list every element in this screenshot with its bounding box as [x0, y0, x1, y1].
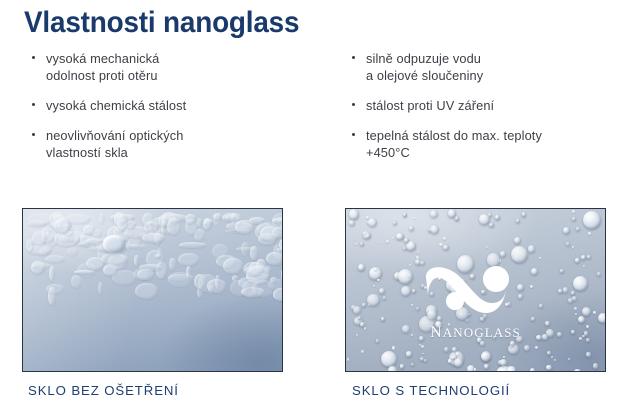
water-droplet: [403, 213, 407, 217]
feature-list-right: silně odpuzuje vodu a olejové sloučeniny…: [350, 50, 637, 174]
water-film-patch: [270, 277, 277, 283]
water-droplet: [568, 358, 570, 360]
water-film-patch: [142, 233, 166, 243]
water-film-patch: [179, 242, 206, 248]
bullet-dot-icon: [32, 133, 35, 136]
water-film-patch: [28, 220, 47, 227]
water-film-patch: [86, 238, 102, 243]
water-droplet: [516, 336, 523, 343]
water-droplet: [360, 242, 364, 246]
list-item-line: vlastností skla: [46, 144, 330, 161]
list-item-line: neovlivňování optických: [46, 127, 330, 144]
water-droplet: [409, 264, 411, 266]
water-film-patch: [242, 280, 257, 298]
water-droplet: [507, 366, 515, 371]
list-item: neovlivňování optických vlastností skla: [30, 127, 330, 161]
water-droplet: [443, 237, 446, 240]
water-film-patch: [167, 218, 181, 234]
water-film-patch: [103, 264, 118, 276]
water-film-patch: [46, 284, 64, 294]
water-droplet: [361, 350, 364, 353]
water-droplet: [530, 368, 535, 371]
water-droplet: [593, 363, 598, 368]
water-droplet: [501, 277, 505, 281]
water-film-patch: [57, 217, 70, 233]
list-item-line: tepelná stálost do max. teploty: [366, 127, 637, 144]
water-droplet: [479, 214, 489, 224]
water-droplet: [412, 289, 416, 293]
water-droplet: [388, 366, 397, 371]
photo-treated-glass: NANOGLASS: [345, 208, 606, 372]
list-item: silně odpuzuje vodu a olejové sloučeniny: [350, 50, 637, 84]
glass-untreated-surface: [23, 209, 282, 371]
water-droplet: [539, 257, 541, 259]
water-droplet: [381, 317, 385, 321]
water-droplet: [486, 354, 488, 356]
water-film-patch: [45, 234, 58, 247]
water-droplet: [593, 311, 596, 314]
water-film-patch: [86, 257, 105, 270]
water-film-patch: [32, 231, 47, 246]
water-droplet: [422, 353, 424, 355]
water-droplet: [396, 233, 404, 241]
water-blob: [103, 235, 125, 253]
list-item: vysoká mechanická odolnost proti otěru: [30, 50, 330, 84]
water-film-patch: [197, 218, 202, 227]
water-droplet: [483, 314, 487, 318]
water-droplet: [443, 245, 448, 250]
water-droplet: [597, 272, 601, 276]
water-film-patch: [213, 214, 221, 226]
glass-treated-surface: NANOGLASS: [346, 209, 605, 371]
water-droplet: [503, 356, 505, 358]
water-droplet: [420, 357, 424, 361]
water-film-patch: [194, 274, 206, 290]
water-droplet: [481, 290, 485, 294]
water-droplet: [373, 285, 375, 287]
list-item-line: a olejové sloučeniny: [366, 67, 637, 84]
water-droplet: [383, 296, 387, 300]
bullet-dot-icon: [32, 56, 35, 59]
water-film-patch: [178, 253, 198, 266]
water-droplet: [444, 347, 449, 352]
water-droplet: [486, 246, 488, 248]
water-droplet: [349, 209, 360, 220]
water-droplet: [400, 364, 405, 369]
water-droplet: [572, 210, 575, 213]
water-droplet: [584, 331, 588, 335]
list-item: vysoká chemická stálost: [30, 97, 330, 114]
list-item-line: +450°C: [366, 144, 637, 161]
water-droplet: [575, 258, 579, 262]
list-item: stálost proti UV záření: [350, 97, 637, 114]
water-film-patch: [135, 283, 158, 299]
list-item-line: silně odpuzuje vodu: [366, 50, 637, 67]
water-droplet: [587, 255, 591, 259]
water-droplet: [586, 352, 590, 356]
water-droplet: [557, 332, 562, 337]
water-droplet: [583, 265, 585, 267]
water-droplet: [450, 279, 467, 296]
water-droplet: [487, 253, 501, 267]
water-droplet: [571, 291, 575, 295]
water-droplet: [401, 286, 410, 295]
water-droplet: [574, 369, 580, 371]
water-droplet: [470, 274, 475, 279]
water-droplet: [531, 317, 535, 321]
feature-list-left: vysoká mechanická odolnost proti otěru v…: [30, 50, 330, 174]
water-droplet: [505, 303, 508, 306]
water-film-patch: [223, 258, 243, 274]
water-droplet: [583, 211, 601, 229]
water-droplet: [542, 334, 547, 339]
water-droplet: [454, 358, 463, 367]
water-droplet: [368, 218, 377, 227]
water-film-patch: [125, 244, 146, 248]
water-droplet: [510, 341, 515, 346]
water-droplet: [411, 334, 413, 336]
water-droplet: [376, 339, 380, 343]
bullet-dot-icon: [32, 103, 35, 106]
water-droplet: [572, 246, 574, 248]
list-item-line: odolnost proti otěru: [46, 67, 330, 84]
water-droplet: [586, 325, 589, 328]
water-film-patch: [99, 213, 104, 224]
bullet-dot-icon: [352, 133, 355, 136]
water-film-patch: [185, 214, 196, 225]
caption-treated-glass: SKLO S TECHNOLOGIÍ: [352, 383, 510, 398]
water-droplet: [367, 294, 380, 307]
water-droplet: [522, 212, 527, 217]
water-droplet: [417, 251, 419, 253]
water-droplet: [409, 226, 413, 230]
list-item: tepelná stálost do max. teploty +450°C: [350, 127, 637, 161]
water-droplet: [374, 268, 377, 271]
water-droplet: [435, 321, 442, 328]
water-film-patch: [243, 262, 264, 275]
water-droplet: [560, 269, 564, 273]
water-droplet: [578, 316, 585, 323]
water-droplet: [586, 338, 590, 342]
water-droplet: [489, 223, 493, 227]
water-droplet: [455, 216, 460, 221]
water-droplet: [495, 215, 500, 220]
water-droplet: [545, 321, 550, 326]
water-droplet: [511, 246, 528, 263]
water-droplet: [349, 220, 355, 226]
water-droplet: [403, 247, 407, 251]
water-droplet: [484, 364, 489, 369]
page-title: Vlastnosti nanoglass: [24, 6, 299, 40]
water-droplet: [456, 307, 469, 320]
photo-untreated-glass: [22, 208, 283, 372]
water-droplet: [568, 298, 573, 303]
water-droplet: [480, 317, 484, 321]
water-droplet: [419, 336, 424, 341]
water-droplet: [536, 335, 541, 340]
water-droplet: [579, 337, 582, 340]
water-film-patch: [92, 229, 102, 238]
water-film-patch: [169, 258, 175, 269]
water-film-patch: [71, 275, 83, 288]
list-item-line: vysoká mechanická: [46, 50, 330, 67]
water-film-patch: [272, 227, 282, 238]
water-film-patch: [273, 288, 282, 300]
bullet-dot-icon: [352, 56, 355, 59]
water-droplet: [500, 359, 507, 366]
caption-untreated-glass: SKLO BEZ OŠETŘENÍ: [28, 383, 179, 398]
water-droplet: [439, 243, 442, 246]
water-film-patch: [67, 247, 78, 256]
water-film-patch: [249, 217, 266, 224]
water-droplet: [448, 209, 456, 217]
water-droplet: [546, 365, 552, 371]
water-droplet: [416, 307, 420, 311]
list-item-line: stálost proti UV záření: [366, 97, 637, 114]
water-film-patch: [98, 282, 103, 295]
water-droplet: [347, 358, 350, 361]
list-item-line: vysoká chemická stálost: [46, 97, 330, 114]
water-droplet: [495, 269, 499, 273]
water-droplet: [358, 264, 365, 271]
water-droplet: [598, 313, 605, 323]
water-film-patch: [117, 214, 128, 231]
water-droplet: [514, 237, 521, 244]
water-droplet: [588, 232, 591, 235]
bullet-dot-icon: [352, 103, 355, 106]
water-droplet: [457, 255, 474, 272]
water-film-patch: [266, 252, 282, 266]
water-droplet: [551, 356, 553, 358]
water-droplet: [566, 242, 570, 246]
water-droplet: [362, 303, 366, 307]
water-droplet: [563, 287, 568, 292]
water-droplet: [386, 240, 388, 242]
water-droplet: [437, 316, 442, 321]
water-film-patch: [101, 253, 128, 265]
water-droplet: [408, 275, 410, 277]
water-droplet: [406, 351, 411, 356]
